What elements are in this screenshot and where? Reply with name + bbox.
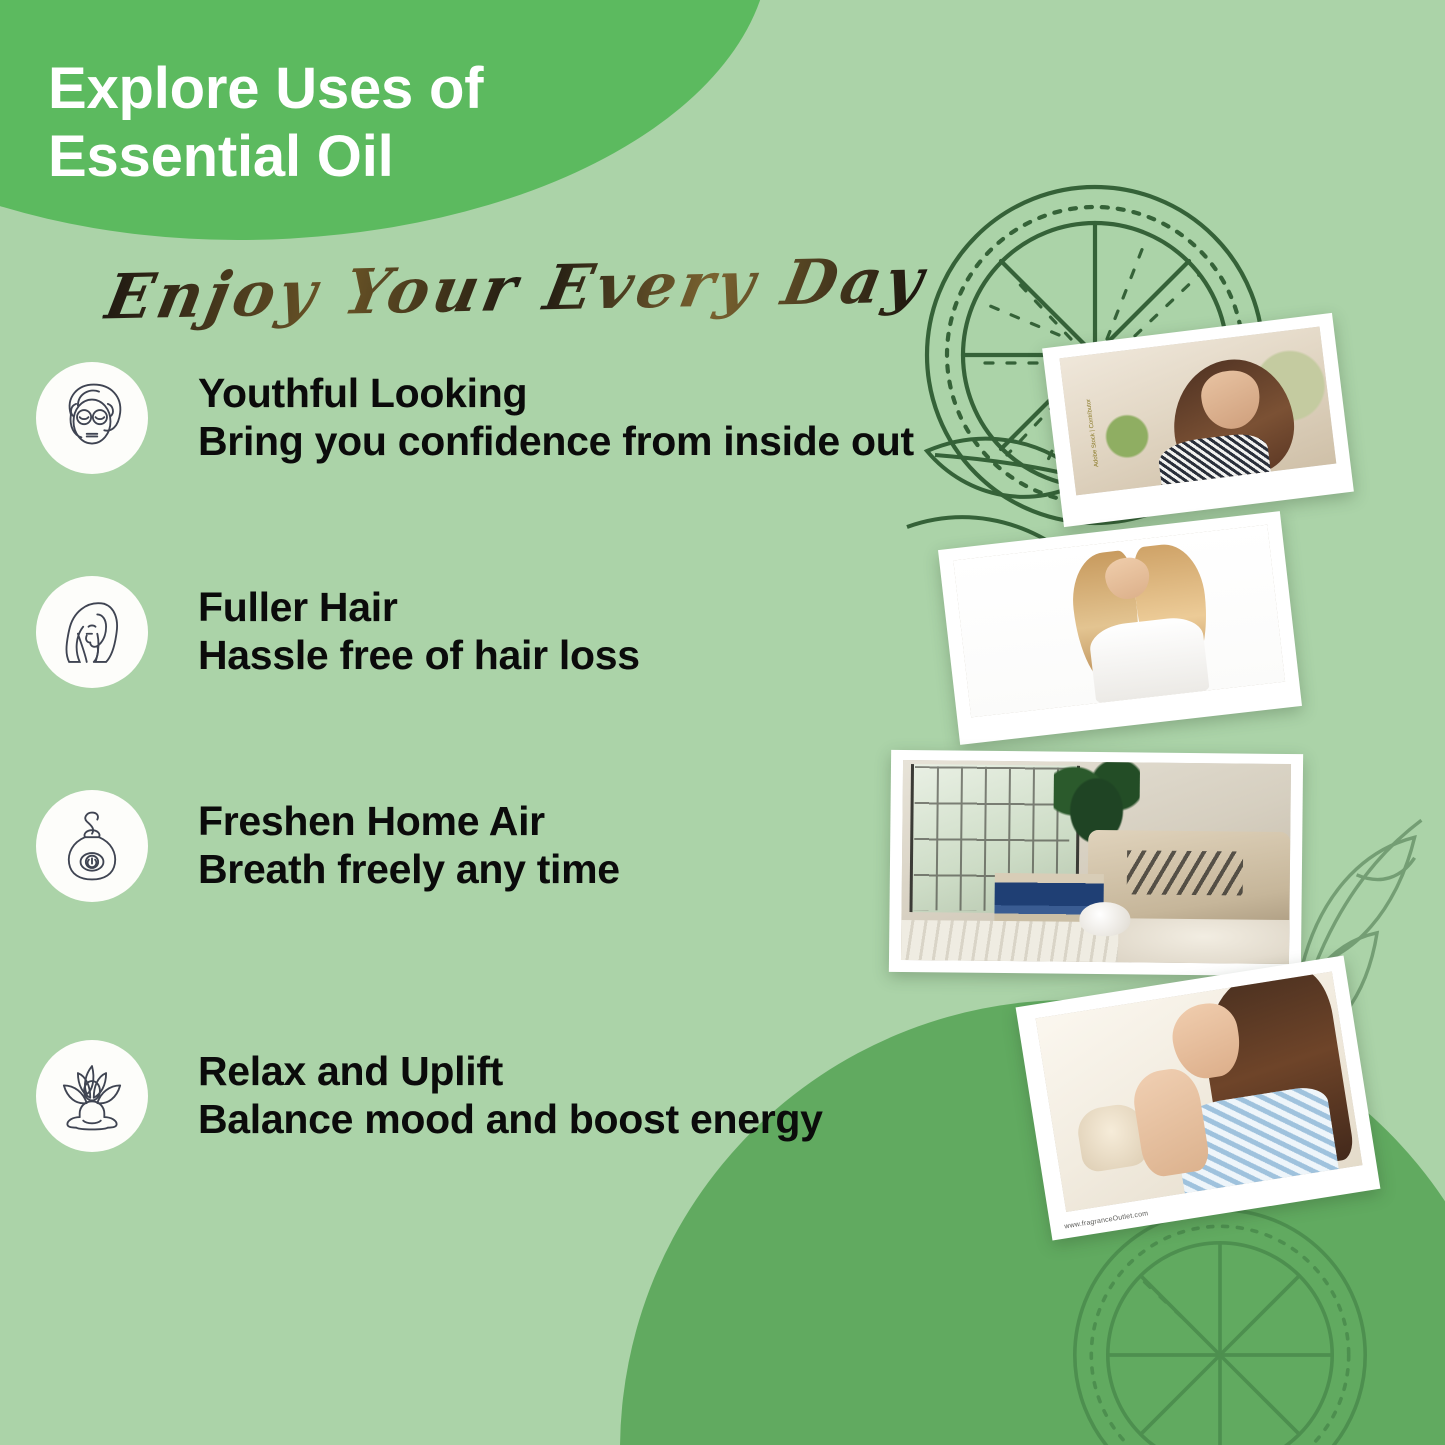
feature-subtitle: Bring you confidence from inside out bbox=[198, 417, 914, 465]
tagline-script: Enjoy Your Every Day bbox=[99, 243, 933, 333]
photo-scene bbox=[901, 760, 1291, 964]
pillow-pattern bbox=[1127, 850, 1244, 895]
aroma-diffuser-icon bbox=[36, 790, 148, 902]
feature-subtitle: Balance mood and boost energy bbox=[198, 1095, 823, 1143]
diffuser-shape bbox=[1080, 902, 1131, 937]
feature-title: Fuller Hair bbox=[198, 585, 640, 631]
face-mask-icon bbox=[36, 362, 148, 474]
photo-living-room-diffuser[interactable] bbox=[889, 750, 1303, 976]
photo-long-blonde-hair[interactable] bbox=[938, 511, 1302, 745]
feature-subtitle: Hassle free of hair loss bbox=[198, 631, 640, 679]
feature-item-relax-and-uplift: Relax and Uplift Balance mood and boost … bbox=[36, 1040, 823, 1152]
feature-text: Relax and Uplift Balance mood and boost … bbox=[174, 1049, 823, 1143]
infographic-canvas: Explore Uses of Essential Oil Enjoy Your… bbox=[0, 0, 1445, 1445]
photo-image bbox=[1036, 972, 1363, 1213]
photo-scene bbox=[953, 525, 1285, 718]
feature-title: Freshen Home Air bbox=[198, 799, 620, 845]
photo-scene bbox=[1059, 326, 1336, 495]
feature-subtitle: Breath freely any time bbox=[198, 845, 620, 893]
feature-title: Relax and Uplift bbox=[198, 1049, 823, 1095]
feature-item-fuller-hair: Fuller Hair Hassle free of hair loss bbox=[36, 576, 640, 688]
photo-image bbox=[953, 525, 1285, 718]
feature-title: Youthful Looking bbox=[198, 371, 914, 417]
page-title: Explore Uses of Essential Oil bbox=[48, 55, 808, 192]
lotus-meditation-icon bbox=[36, 1040, 148, 1152]
photo-scene bbox=[1036, 972, 1363, 1213]
long-hair-icon bbox=[36, 576, 148, 688]
feature-item-freshen-home-air: Freshen Home Air Breath freely any time bbox=[36, 790, 620, 902]
photo-smiling-woman[interactable]: Adobe Stock | Contributor bbox=[1042, 313, 1354, 527]
feature-text: Youthful Looking Bring you confidence fr… bbox=[174, 371, 914, 465]
photo-image bbox=[901, 760, 1291, 964]
feature-text: Fuller Hair Hassle free of hair loss bbox=[174, 585, 640, 679]
feature-text: Freshen Home Air Breath freely any time bbox=[174, 799, 620, 893]
arm-shape bbox=[1130, 1065, 1212, 1180]
fur-rug-shape bbox=[1118, 918, 1289, 964]
photo-image bbox=[1059, 326, 1336, 495]
feature-item-youthful-looking: Youthful Looking Bring you confidence fr… bbox=[36, 362, 914, 474]
garment-shape bbox=[1088, 615, 1210, 703]
